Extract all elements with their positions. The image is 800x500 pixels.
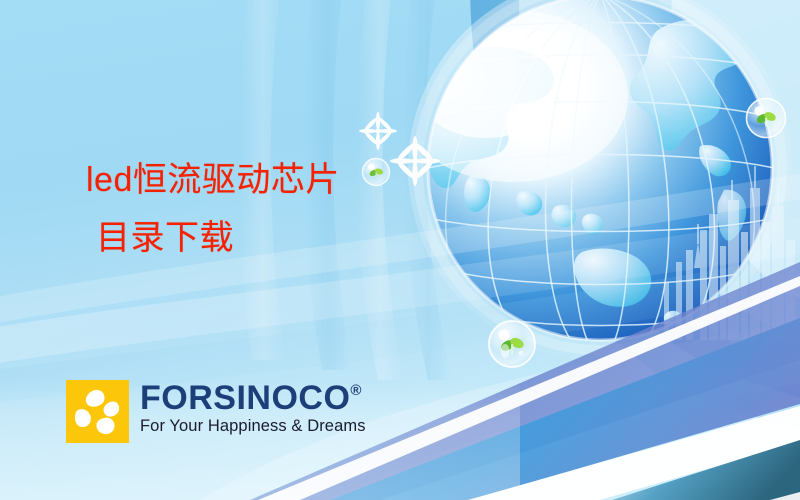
promo-banner: led恒流驱动芯片 目录下载 FORSINOCO® xyxy=(0,0,800,500)
logo-wordmark: FORSINOCO® xyxy=(140,381,366,416)
headline-block: led恒流驱动芯片 目录下载 xyxy=(0,163,400,255)
logo-text-block: FORSINOCO® For Your Happiness & Dreams xyxy=(140,381,366,436)
logo-wordmark-text: FORSINOCO xyxy=(140,379,350,417)
headline-line-2: 目录下载 xyxy=(0,221,400,255)
logo-mark-petals-icon xyxy=(66,380,129,443)
bubble-sprout-large xyxy=(489,321,535,367)
headline-line-1: led恒流驱动芯片 xyxy=(0,163,400,197)
bubble-sprout-corner xyxy=(747,99,786,138)
company-logo: FORSINOCO® For Your Happiness & Dreams xyxy=(66,380,366,443)
logo-tagline: For Your Happiness & Dreams xyxy=(140,417,366,436)
registered-trademark-symbol: ® xyxy=(350,382,362,399)
